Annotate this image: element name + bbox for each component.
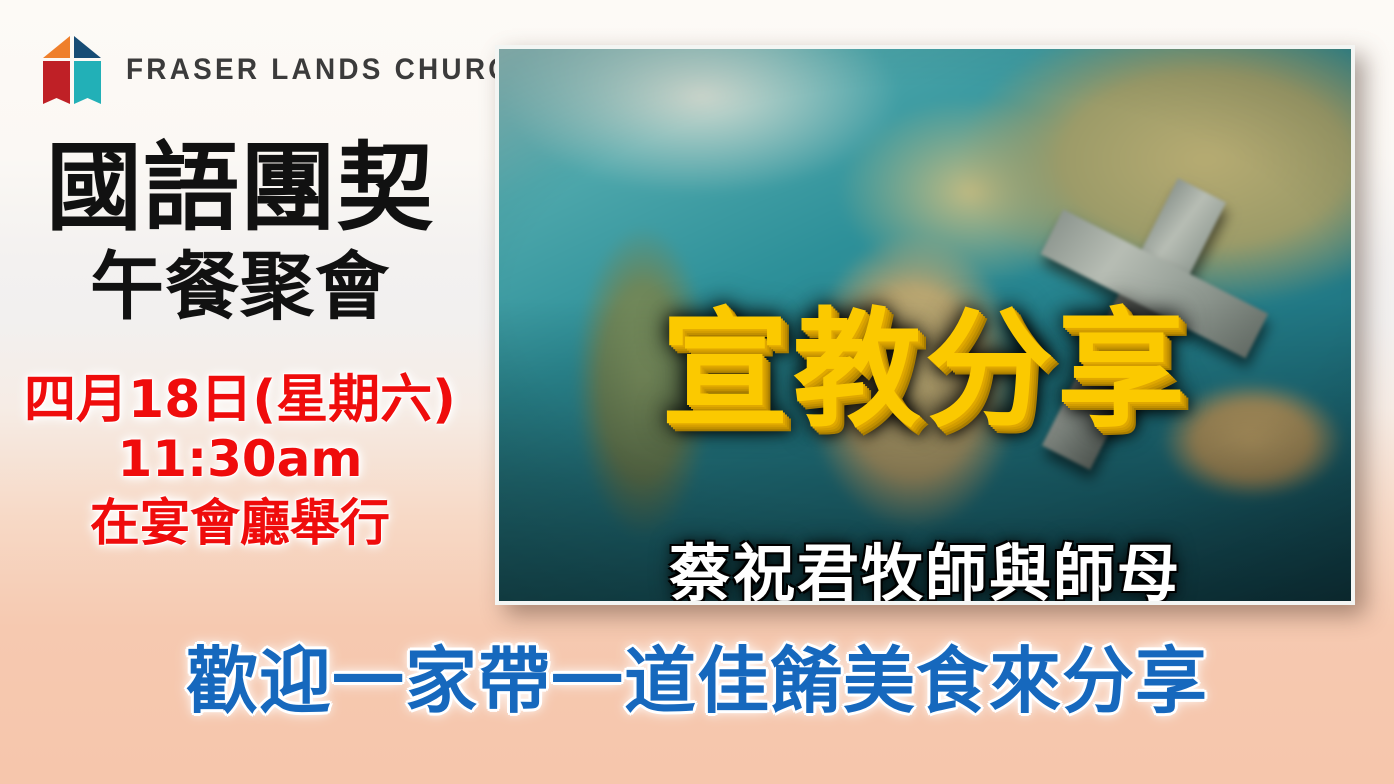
photo-title-text: 宣教分享 <box>499 307 1351 435</box>
announcement-slide: FRASER LANDS CHURCH 國語團契 午餐聚會 四月18日(星期六)… <box>0 0 1394 784</box>
event-time: 11:30am <box>0 428 480 491</box>
logo-banner-teal-icon <box>74 61 101 104</box>
photo-subtitle-text: 蔡祝君牧師與師母 <box>499 543 1351 605</box>
footer-invitation-text: 歡迎一家帶一道佳餚美食來分享 <box>0 645 1394 717</box>
mission-photo-panel: 宣教分享 蔡祝君牧師與師母 <box>495 45 1355 605</box>
headline-line-2: 午餐聚會 <box>0 250 480 324</box>
event-date: 四月18日(星期六) <box>0 372 480 428</box>
church-banner-logo-icon <box>42 36 104 104</box>
church-wordmark: FRASER LANDS CHURCH <box>126 53 535 87</box>
logo-triangle-navy-icon <box>74 36 101 58</box>
event-headline: 國語團契 午餐聚會 <box>0 140 480 324</box>
event-venue: 在宴會廳舉行 <box>0 491 480 556</box>
logo-triangle-orange-icon <box>43 36 70 58</box>
headline-line-1: 國語團契 <box>0 140 480 236</box>
event-details: 四月18日(星期六) 11:30am 在宴會廳舉行 <box>0 372 480 556</box>
logo-banner-red-icon <box>43 61 70 104</box>
church-logo-lockup: FRASER LANDS CHURCH <box>42 36 566 104</box>
